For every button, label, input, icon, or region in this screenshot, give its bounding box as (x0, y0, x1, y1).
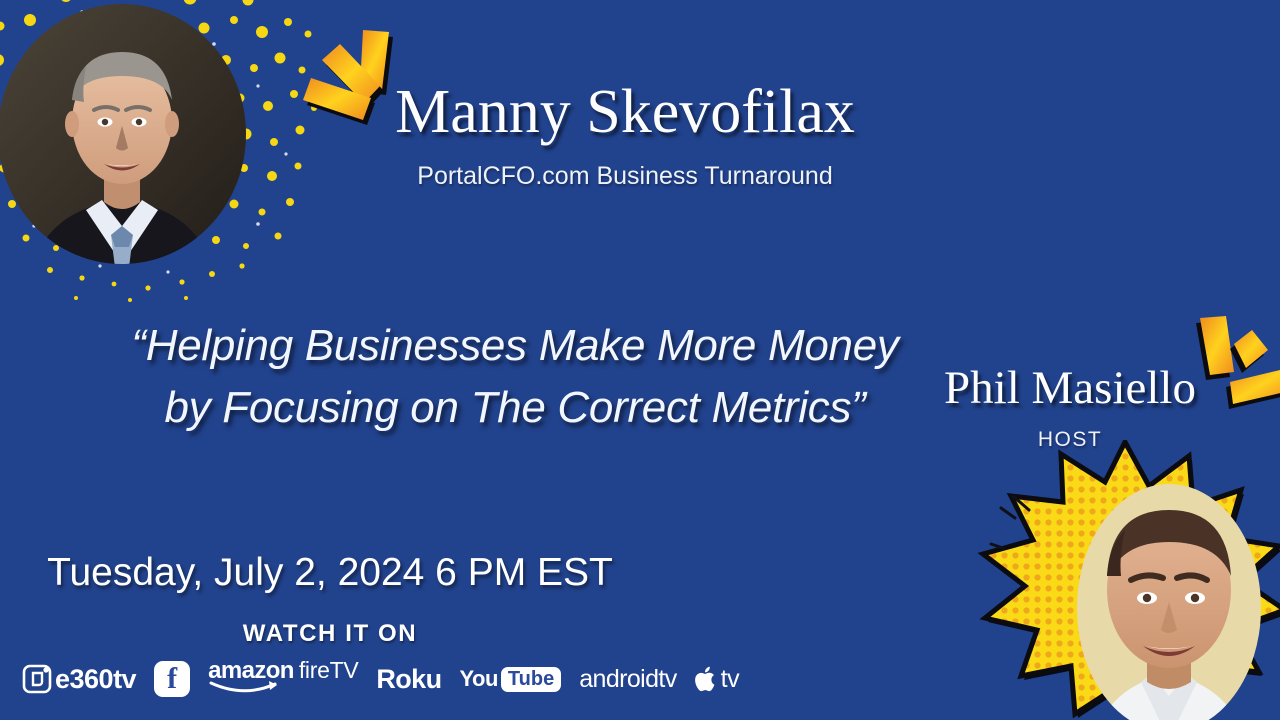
platform-roku[interactable]: Roku (376, 657, 441, 701)
promo-graphic: Manny Skevofilax PortalCFO.com Business … (0, 0, 1280, 720)
guest-subtitle: PortalCFO.com Business Turnaround (360, 162, 890, 191)
guest-photo (0, 4, 246, 264)
guest-portrait-block (0, 0, 320, 312)
event-datetime: Tuesday, July 2, 2024 6 PM EST (40, 551, 620, 595)
host-name: Phil Masiello (905, 362, 1235, 414)
platform-facebook[interactable]: f (154, 657, 190, 701)
roku-icon: Roku (376, 664, 441, 695)
e360tv-icon (22, 664, 52, 694)
quote-line-2: by Focusing on The Correct Metrics” (75, 377, 955, 439)
quote-text: “Helping Businesses Make More Money by F… (75, 315, 955, 439)
platform-e360tv[interactable]: e360tv (22, 657, 136, 701)
watch-it-on-label: WATCH IT ON (40, 620, 620, 648)
appletv-label: tv (721, 665, 739, 694)
platform-appletv[interactable]: tv (695, 657, 739, 701)
youtube-icon: Tube (501, 667, 561, 692)
platform-logo-strip: e360tv f amazon fireTV Roku You Tube and… (22, 655, 739, 703)
host-starburst-portrait (955, 440, 1280, 720)
platform-youtube[interactable]: You Tube (460, 657, 562, 701)
guest-name: Manny Skevofilax (360, 78, 890, 146)
quote-line-1: “Helping Businesses Make More Money (75, 315, 955, 377)
firetv-label: fireTV (299, 657, 359, 684)
platform-amazon-firetv[interactable]: amazon fireTV (208, 657, 358, 701)
facebook-icon: f (154, 661, 190, 697)
platform-androidtv[interactable]: androidtv (579, 657, 676, 701)
amazon-smile-icon (209, 681, 279, 693)
guest-headshot-image (0, 4, 246, 264)
androidtv-icon: androidtv (579, 665, 676, 694)
e360tv-label: e360tv (55, 664, 136, 695)
apple-icon (695, 665, 719, 693)
youtube-you-label: You (460, 666, 498, 692)
